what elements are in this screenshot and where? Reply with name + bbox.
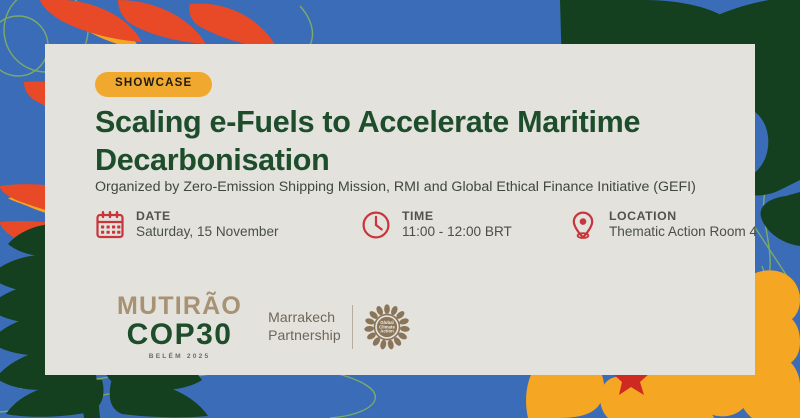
clock-icon (361, 210, 391, 240)
logo-strip: MUTIRÃO COP30 BELÉM 2025 Marrakech Partn… (117, 294, 410, 361)
event-detail-location: LOCATION Thematic Action Room 4 (568, 210, 757, 240)
event-detail-date: DATE Saturday, 15 November (95, 210, 279, 240)
poster-canvas: SHOWCASE Scaling e-Fuels to Accelerate M… (0, 0, 800, 418)
global-climate-action-emblem: Global Climate Action (364, 304, 410, 350)
marrakech-line-1: Marrakech (268, 309, 341, 327)
cop30-logo-belem: BELÉM 2025 (149, 354, 211, 361)
marrakech-partnership-logo: Marrakech Partnership (268, 304, 410, 350)
detail-label-location: LOCATION (609, 210, 757, 222)
calendar-icon (95, 210, 125, 240)
cop30-logo-cop30: COP30 (127, 320, 233, 350)
location-pin-icon (568, 210, 598, 240)
cop30-logo: MUTIRÃO COP30 BELÉM 2025 (117, 294, 242, 361)
marrakech-partnership-text: Marrakech Partnership (268, 309, 341, 345)
organizers-text: Organized by Zero-Emission Shipping Miss… (95, 178, 745, 196)
page-title: Scaling e-Fuels to Accelerate Maritime D… (95, 104, 735, 179)
event-details-row: DATE Saturday, 15 November TIME 11:00 - … (95, 210, 755, 260)
detail-label-time: TIME (402, 210, 512, 222)
emblem-line-3: Action (380, 329, 394, 334)
detail-value-date: Saturday, 15 November (136, 225, 279, 240)
logo-divider (352, 305, 353, 349)
detail-value-time: 11:00 - 12:00 BRT (402, 225, 512, 240)
detail-value-location: Thematic Action Room 4 (609, 225, 757, 240)
event-detail-time: TIME 11:00 - 12:00 BRT (361, 210, 512, 240)
detail-label-date: DATE (136, 210, 279, 222)
status-badge: SHOWCASE (95, 72, 212, 97)
cop30-logo-mutirao: MUTIRÃO (117, 294, 242, 319)
event-card: SHOWCASE Scaling e-Fuels to Accelerate M… (45, 44, 755, 375)
marrakech-line-2: Partnership (268, 327, 341, 345)
